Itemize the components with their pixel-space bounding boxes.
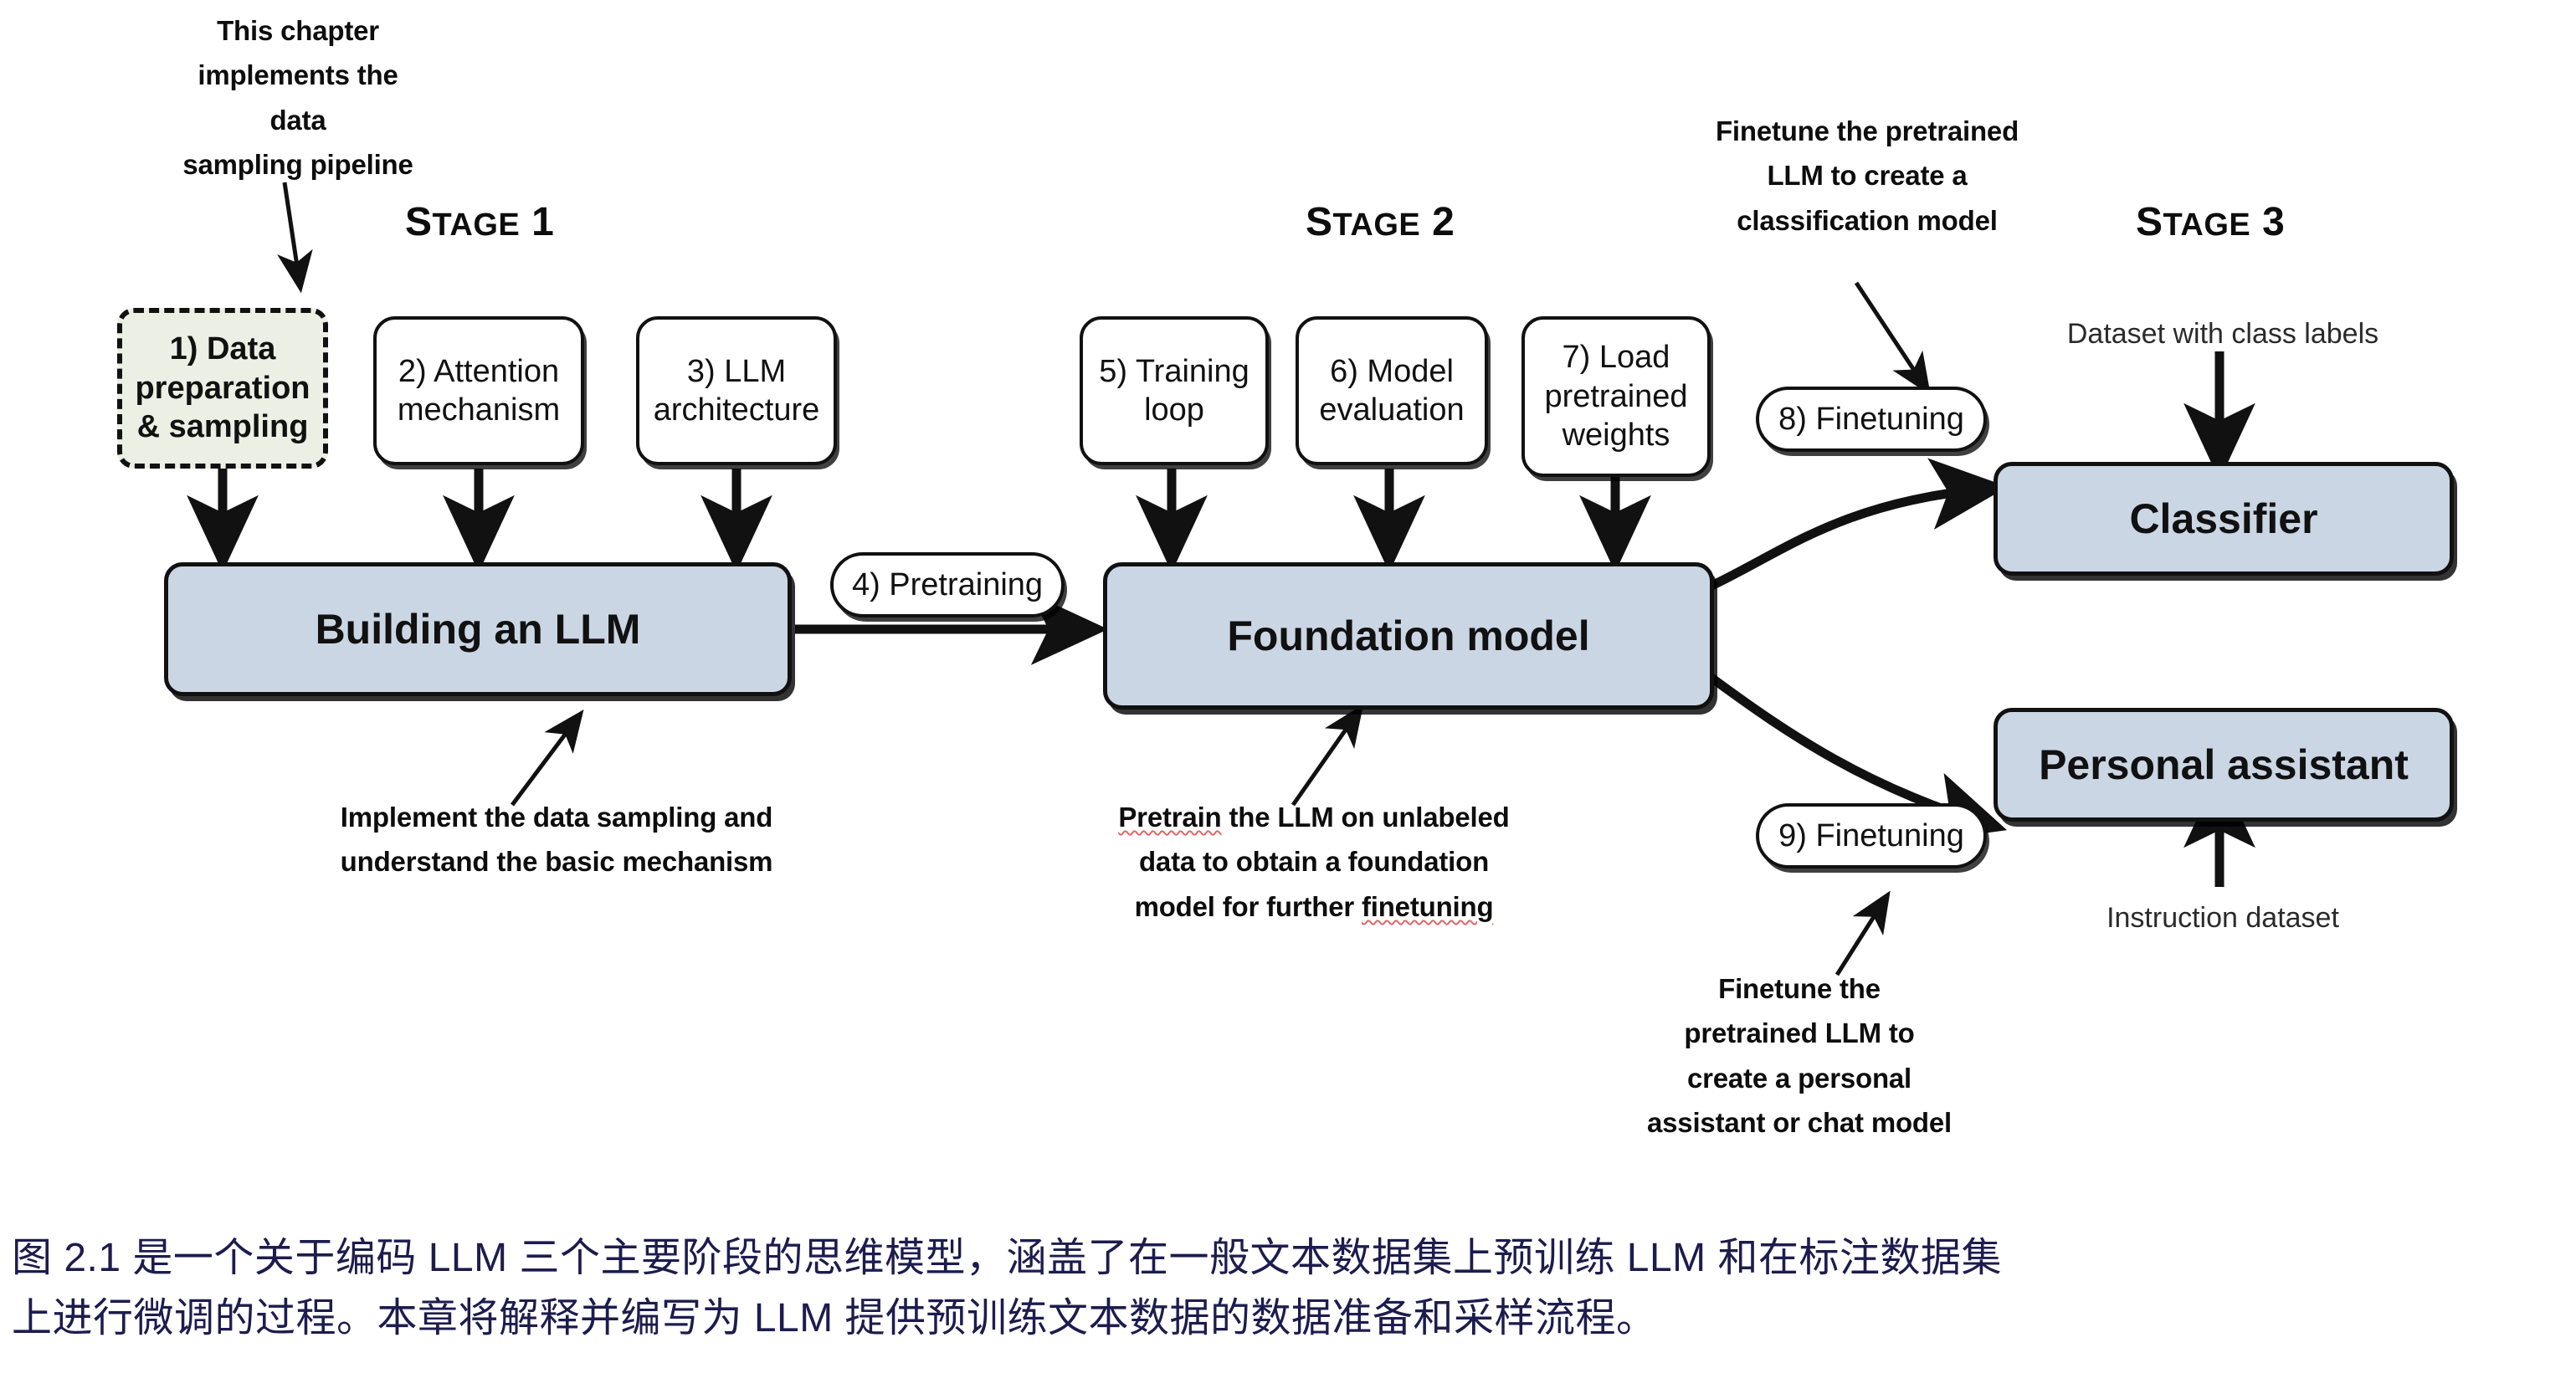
annotation-line: Implement the data sampling and (293, 795, 820, 839)
main-box-foundation-model[interactable]: Foundation model (1103, 562, 1714, 710)
annotation-implement-data-sampling: Implement the data sampling and understa… (293, 795, 820, 884)
pill-label: 8) Finetuning (1778, 400, 1964, 438)
step-label: 6) Model evaluation (1307, 352, 1476, 430)
stage-title-3: STAGE 3 (2136, 199, 2285, 245)
main-box-personal-assistant[interactable]: Personal assistant (1994, 708, 2454, 822)
caption-line-2: 上进行微调的过程。本章将解释并编写为 LLM 提供预训练文本数据的数据准备和采样… (12, 1289, 2564, 1349)
dataset-label-text: Dataset with class labels (2067, 318, 2378, 350)
step-box-load-pretrained-weights[interactable]: 7) Load pretrained weights (1521, 316, 1711, 477)
stage-title-initial: S (1306, 200, 1333, 244)
annotation-line: create a personal (1590, 1056, 2009, 1100)
llm-pipeline-diagram: This chapter implements the data samplin… (0, 0, 2576, 1213)
step-label: 2) Attention mechanism (385, 352, 572, 430)
annotation-line: LLM to create a (1654, 153, 2081, 197)
annotation-text: model for further (1135, 891, 1362, 922)
spellcheck-word: finetuning (1362, 891, 1493, 922)
annotation-line: implements the data (172, 53, 423, 142)
annotation-line: Finetune the pretrained (1654, 109, 2081, 153)
stage-title-initial: S (405, 200, 433, 244)
step-box-training-loop[interactable]: 5) Training loop (1080, 316, 1269, 465)
caption-line-1: 图 2.1 是一个关于编码 LLM 三个主要阶段的思维模型，涵盖了在一般文本数据… (12, 1228, 2564, 1289)
dataset-label-text: Instruction dataset (2106, 902, 2339, 934)
stage-title-rest: TAGE (1333, 208, 1421, 243)
pill-finetuning-assistant[interactable]: 9) Finetuning (1756, 803, 1987, 869)
step-label: 3) LLM architecture (648, 352, 825, 430)
stage-number: 2 (1432, 200, 1455, 244)
step-box-model-evaluation[interactable]: 6) Model evaluation (1296, 316, 1488, 465)
step-label: 5) Training loop (1091, 352, 1257, 430)
stage-title-initial: S (2136, 200, 2163, 244)
pill-label: 9) Finetuning (1778, 817, 1964, 855)
stage-title-number (520, 200, 531, 244)
annotation-line: This chapter (172, 8, 423, 53)
label-dataset-with-class-labels: Dataset with class labels (2002, 318, 2444, 351)
annotation-line: pretrained LLM to (1590, 1011, 2009, 1055)
annotation-line: assistant or chat model (1590, 1100, 2009, 1145)
main-box-label: Foundation model (1227, 611, 1589, 662)
stage-number: 1 (531, 200, 554, 244)
main-box-label: Classifier (2129, 494, 2317, 545)
annotation-line: Finetune the (1590, 966, 2009, 1011)
annotation-finetune-assistant: Finetune the pretrained LLM to create a … (1590, 966, 2009, 1145)
annotation-line: model for further finetuning (1088, 884, 1540, 929)
annotation-line: sampling pipeline (172, 142, 423, 187)
step-box-attention-mechanism[interactable]: 2) Attention mechanism (373, 316, 584, 465)
label-instruction-dataset: Instruction dataset (2002, 902, 2444, 935)
annotation-line: data to obtain a foundation (1088, 839, 1540, 884)
stage-title-rest: TAGE (2163, 208, 2251, 243)
main-box-building-an-llm[interactable]: Building an LLM (164, 562, 792, 696)
pill-label: 4) Pretraining (852, 566, 1043, 604)
step-box-data-preparation[interactable]: 1) Data preparation & sampling (117, 308, 328, 469)
figure-caption: 图 2.1 是一个关于编码 LLM 三个主要阶段的思维模型，涵盖了在一般文本数据… (12, 1228, 2564, 1349)
annotation-text: the LLM on unlabeled (1222, 802, 1510, 833)
step-box-llm-architecture[interactable]: 3) LLM architecture (636, 316, 837, 465)
main-box-classifier[interactable]: Classifier (1994, 462, 2454, 576)
stage-title-rest: TAGE (433, 208, 521, 243)
annotation-finetune-classification: Finetune the pretrained LLM to create a … (1654, 109, 2081, 243)
stage-title-1: STAGE 1 (405, 199, 554, 245)
annotation-line: classification model (1654, 198, 2081, 243)
pill-pretraining[interactable]: 4) Pretraining (830, 552, 1065, 618)
step-label: 7) Load pretrained weights (1533, 338, 1699, 454)
spellcheck-word: Pretrain (1118, 802, 1221, 833)
stage-number: 3 (2262, 200, 2285, 244)
annotation-this-chapter: This chapter implements the data samplin… (172, 8, 423, 187)
annotation-line: Pretrain the LLM on unlabeled (1088, 795, 1540, 839)
pill-finetuning-classifier[interactable]: 8) Finetuning (1756, 387, 1987, 452)
main-box-label: Personal assistant (2039, 740, 2409, 791)
main-box-label: Building an LLM (316, 604, 641, 655)
annotation-pretrain-llm: Pretrain the LLM on unlabeled data to ob… (1088, 795, 1540, 929)
stage-title-2: STAGE 2 (1306, 199, 1455, 245)
step-label: 1) Data preparation & sampling (131, 330, 315, 446)
annotation-line: understand the basic mechanism (293, 839, 820, 884)
